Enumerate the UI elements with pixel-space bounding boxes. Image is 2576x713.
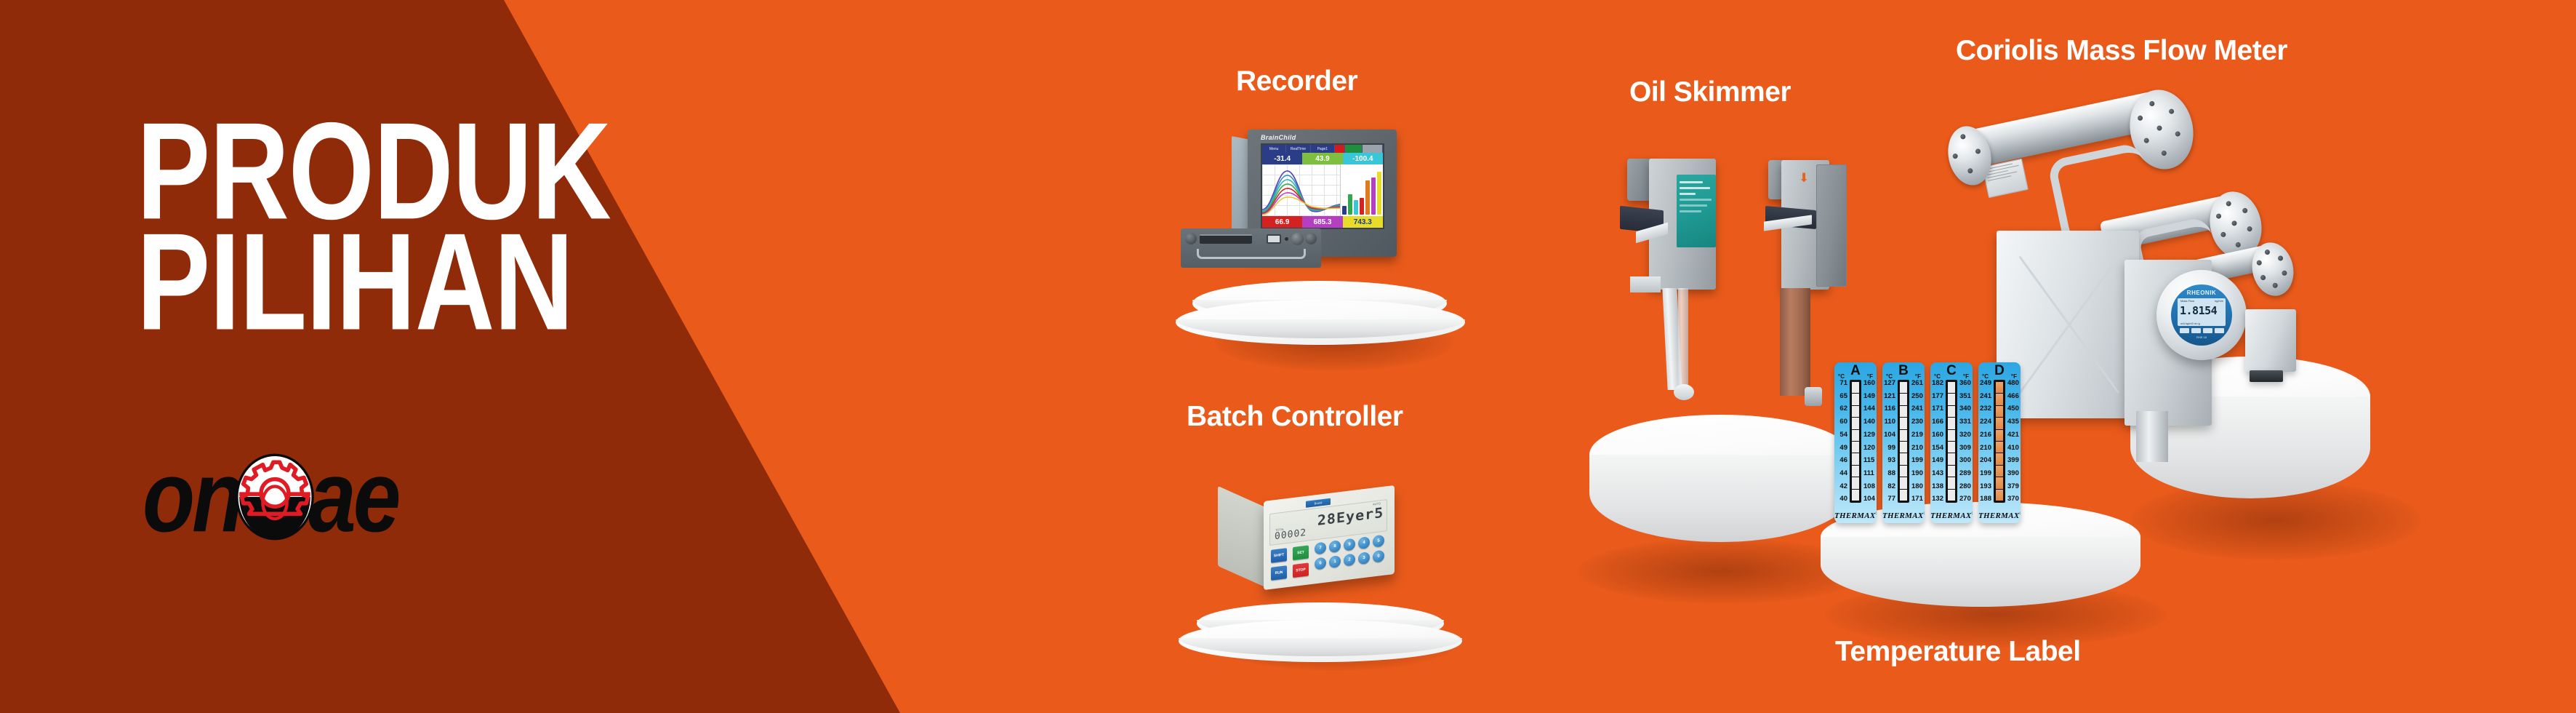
temp-fahrenheit-value: 160 (1863, 380, 1875, 387)
product-label-temperature: Temperature Label (1835, 636, 2081, 668)
temp-celsius-value: 199 (1980, 470, 1991, 477)
temp-celsius-value: 216 (1980, 431, 1991, 439)
temp-brand: THERMAX® (1978, 511, 2021, 520)
temp-celsius-value: 160 (1932, 431, 1943, 439)
temp-window-cell (1852, 430, 1859, 441)
temp-window-cell (1852, 382, 1859, 393)
temp-fahrenheit-value: 108 (1863, 483, 1875, 490)
temp-celsius-value: 188 (1980, 495, 1991, 503)
coriolis-stem (2136, 411, 2168, 462)
temp-fahrenheit-value: 190 (1911, 470, 1923, 477)
coriolis-lcd-label-left: Mass Flow (2180, 299, 2194, 303)
batch-rear-housing (1218, 486, 1270, 589)
recorder-realtime-tab[interactable]: RealTime (1286, 145, 1310, 153)
batch-keypad-key[interactable]: 1 (1329, 555, 1341, 568)
temp-celsius-value: 77 (1887, 495, 1895, 503)
temp-fahrenheit-value: 270 (1959, 495, 1971, 503)
temp-fahrenheit-value: 111 (1863, 470, 1874, 477)
temp-celsius-column: 1271211161101049993888277 (1882, 380, 1897, 503)
recorder-trend-plot (1262, 164, 1383, 216)
temp-window-cell (1900, 477, 1907, 488)
speaker-icon (1335, 145, 1345, 153)
temp-celsius-value: 40 (1839, 495, 1847, 503)
temp-fahrenheit-value: 250 (1911, 393, 1923, 400)
temp-fahrenheit-column: 480466450435421410399390379370 (2006, 380, 2021, 503)
temp-celsius-value: 54 (1839, 431, 1847, 439)
batch-keypad-key[interactable]: 7 (1315, 541, 1326, 554)
batch-keypad-key[interactable]: 3 (1358, 551, 1370, 565)
batch-keypad-key[interactable]: 2 (1344, 554, 1355, 567)
product-temperature-labels[interactable]: A °C °F 71656260544946444240 16014914414… (1834, 362, 2140, 617)
coriolis-lcd-label-right: kg/min (2215, 299, 2223, 303)
down-arrow-icon: ⬇ (1799, 172, 1809, 184)
temp-fahrenheit-value: 115 (1863, 457, 1874, 464)
temp-window-cell (1852, 418, 1859, 429)
temp-celsius-value: 121 (1884, 393, 1895, 400)
temp-celsius-value: 60 (1839, 418, 1847, 426)
temp-celsius-column: 249241232224216210204199193188 (1978, 380, 1993, 503)
usb-port-icon[interactable] (1267, 234, 1281, 244)
temp-celsius-value: 149 (1932, 457, 1943, 464)
temp-fahrenheit-value: 280 (1959, 483, 1971, 490)
promo-banner: PRODUK PILIHAN on ae Recorder Batch Cont… (0, 0, 2576, 713)
temp-fahrenheit-value: 199 (1911, 457, 1923, 464)
temp-fahrenheit-value: 450 (2007, 405, 2019, 413)
temp-celsius-value: 82 (1887, 483, 1895, 490)
batch-key-set[interactable]: SET (1293, 545, 1309, 560)
temp-fahrenheit-value: 480 (2007, 380, 2019, 387)
temp-fahrenheit-value: 399 (2007, 457, 2019, 464)
temp-celsius-value: 132 (1932, 495, 1943, 503)
recorder-led (1285, 237, 1288, 241)
temp-fahrenheit-value: 421 (2007, 431, 2019, 439)
product-label-recorder: Recorder (1236, 65, 1357, 97)
temp-fahrenheit-value: 289 (1959, 470, 1971, 477)
temp-fahrenheit-value: 140 (1863, 418, 1875, 426)
temp-indicator-window (1946, 380, 1957, 503)
temp-fahrenheit-value: 129 (1863, 431, 1875, 439)
page-title: PRODUK PILIHAN (137, 116, 611, 338)
batch-keypad-key[interactable]: 8 (1329, 540, 1341, 553)
temp-fahrenheit-value: 379 (2007, 483, 2019, 490)
temp-window-cell (1948, 382, 1955, 393)
temp-window-cell (1948, 406, 1955, 417)
temp-celsius-value: 62 (1839, 405, 1847, 413)
temp-window-cell (1948, 394, 1955, 405)
gear-circle-icon (234, 453, 316, 541)
product-oil-skimmer[interactable]: ⬇ (1563, 131, 1876, 575)
recorder-value-4: 66.9 (1262, 216, 1302, 228)
skimmer-b-door[interactable] (1816, 164, 1847, 287)
recorder-status-gray (1363, 145, 1383, 153)
skimmer-a-foot (1674, 384, 1694, 400)
batch-keypad-key[interactable]: 5 (1373, 535, 1384, 548)
recorder-menu-tab[interactable]: Menu (1262, 145, 1286, 153)
temp-celsius-value: 99 (1887, 445, 1895, 452)
product-batch-controller[interactable]: Brand AUTO 28Eyer5 TOTAL 00002 SHIFT SET… (1185, 466, 1490, 684)
recorder-value-2: 43.9 (1302, 153, 1342, 164)
temp-celsius-value: 143 (1932, 470, 1943, 477)
batch-keypad[interactable]: 7 8 9 4 5 6 1 2 3 0 (1315, 535, 1384, 575)
batch-keypad-key[interactable]: 9 (1344, 538, 1355, 551)
batch-key-stop[interactable]: STOP (1293, 562, 1309, 578)
temp-fahrenheit-value: 309 (1959, 445, 1971, 452)
temperature-strip-a[interactable]: A °C °F 71656260544946444240 16014914414… (1834, 362, 1877, 523)
temp-fahrenheit-value: 351 (1959, 393, 1971, 400)
recorder-bottom-values: 66.9 685.3 743.3 (1262, 216, 1383, 228)
temp-celsius-value: 224 (1980, 418, 1991, 426)
temp-window-cell (1852, 477, 1859, 488)
batch-key-run[interactable]: RUN (1271, 565, 1287, 581)
temp-celsius-value: 249 (1980, 380, 1991, 387)
temp-celsius-value: 204 (1980, 457, 1991, 464)
temp-celsius-value: 71 (1839, 380, 1847, 387)
temp-fahrenheit-value: 370 (2007, 495, 2019, 503)
temp-window-cell (1948, 442, 1955, 453)
recorder-front-panel[interactable] (1181, 228, 1321, 268)
batch-keypad-key[interactable]: 6 (1315, 557, 1326, 570)
coriolis-lcd: Mass Flow kg/min 1.8154 mA kg/m3 m=g (2178, 298, 2226, 326)
temp-window-cell (1900, 453, 1907, 464)
recorder-status-green (1345, 145, 1363, 153)
temp-window-cell (1900, 442, 1907, 453)
temp-fahrenheit-value: 300 (1959, 457, 1971, 464)
skimmer-b-belt (1780, 288, 1810, 396)
batch-front-case: Brand AUTO 28Eyer5 TOTAL 00002 SHIFT SET… (1264, 485, 1395, 590)
temp-celsius-value: 110 (1885, 418, 1895, 426)
temp-celsius-value: 154 (1932, 445, 1943, 452)
temp-indicator-window (1850, 380, 1861, 503)
temp-window-cell (1996, 430, 2003, 441)
temp-celsius-value: 241 (1980, 393, 1991, 400)
temp-celsius-value: 182 (1932, 380, 1943, 387)
coriolis-button[interactable] (2215, 328, 2224, 333)
temp-window-cell (1948, 453, 1955, 464)
temp-window-cell (1996, 466, 2003, 477)
product-label-coriolis: Coriolis Mass Flow Meter (1956, 35, 2287, 67)
screw-icon-left (1185, 233, 1197, 244)
temp-window-cell (1900, 406, 1907, 417)
batch-keypad-key[interactable]: 0 (1373, 550, 1384, 563)
temp-window-cell (1996, 442, 2003, 453)
temp-window-cell (1948, 466, 1955, 477)
temp-celsius-value: 44 (1839, 470, 1847, 477)
recorder-top-values: -31.4 43.9 -100.4 (1262, 153, 1383, 164)
recorder-value-5: 685.3 (1302, 216, 1342, 228)
temperature-strip-d[interactable]: D °C °F 249241232224216210204199193188 4… (1978, 362, 2021, 523)
temp-fahrenheit-value: 261 (1911, 380, 1923, 387)
temp-window-cell (1996, 418, 2003, 429)
batch-key-shift[interactable]: SHIFT (1271, 548, 1287, 563)
batch-keypad-key[interactable]: 4 (1358, 536, 1370, 549)
temp-celsius-value: 127 (1884, 380, 1895, 387)
temp-fahrenheit-value: 435 (2007, 418, 2019, 426)
recorder-trend-grid (1262, 164, 1340, 216)
brand-logo[interactable]: on ae (143, 453, 398, 541)
temp-celsius-value: 171 (1932, 405, 1943, 413)
temp-window-cell (1900, 466, 1907, 477)
coriolis-cable-gland (2250, 370, 2283, 382)
coriolis-transmitter-face: RHEONIK Mass Flow kg/min 1.8154 mA kg/m3… (2171, 284, 2232, 346)
temp-window-cell (1900, 394, 1907, 405)
coriolis-junction-box (2245, 309, 2296, 372)
temp-celsius-value: 210 (1980, 445, 1991, 452)
recorder-page-tab[interactable]: Page1 (1311, 145, 1335, 153)
recorder-handle[interactable] (1197, 249, 1306, 259)
product-recorder[interactable]: BrainChild Menu RealTime Page1 -31.4 43.… (1176, 122, 1482, 370)
coriolis-transmitter-tag: RHE 16 (2196, 335, 2207, 339)
temp-fahrenheit-value: 331 (1959, 418, 1971, 426)
temp-fahrenheit-value: 120 (1863, 445, 1875, 452)
temp-window-cell (1852, 466, 1859, 477)
temp-fahrenheit-value: 149 (1863, 393, 1875, 400)
temp-fahrenheit-value: 390 (2007, 470, 2019, 477)
recorder-value-3: -100.4 (1343, 153, 1383, 164)
temp-celsius-value: 93 (1887, 457, 1895, 464)
temp-fahrenheit-value: 219 (1911, 431, 1923, 439)
temp-celsius-value: 104 (1884, 431, 1895, 439)
recorder-value-1: -31.4 (1262, 153, 1302, 164)
temp-fahrenheit-column: 160149144140129120115111108104 (1862, 380, 1877, 503)
temp-window-cell (1948, 418, 1955, 429)
temp-window-cell (1996, 406, 2003, 417)
coriolis-button[interactable] (2191, 328, 2201, 333)
temp-window-cell (1852, 490, 1859, 501)
temp-window-cell (1948, 477, 1955, 488)
temp-celsius-column: 71656260544946444240 (1834, 380, 1849, 503)
coriolis-transmitter[interactable]: RHEONIK Mass Flow kg/min 1.8154 mA kg/m3… (2156, 270, 2247, 360)
temp-window-cell (1948, 430, 1955, 441)
recorder-power-knob[interactable] (1291, 233, 1304, 245)
temp-fahrenheit-value: 104 (1863, 495, 1875, 503)
temp-window-cell (1852, 442, 1859, 453)
temp-celsius-value: 193 (1980, 483, 1991, 490)
temperature-strip-b[interactable]: B °C °F 1271211161101049993888277 261250… (1882, 362, 1925, 523)
temp-window-cell (1900, 418, 1907, 429)
temp-window-cell (1996, 490, 2003, 501)
temp-window-cell (1852, 453, 1859, 464)
temp-brand: THERMAX® (1882, 511, 1925, 520)
coriolis-button-row[interactable] (2180, 328, 2224, 333)
temp-fahrenheit-value: 180 (1911, 483, 1923, 490)
temp-fahrenheit-value: 144 (1863, 405, 1875, 413)
temp-celsius-value: 42 (1839, 483, 1847, 490)
temp-window-cell (1900, 382, 1907, 393)
temp-indicator-window (1898, 380, 1909, 503)
temp-celsius-value: 88 (1887, 470, 1895, 477)
temp-brand: THERMAX® (1834, 511, 1877, 520)
temp-celsius-value: 116 (1885, 405, 1895, 413)
temp-fahrenheit-value: 340 (1959, 405, 1971, 413)
screw-icon-right (1305, 233, 1317, 244)
coriolis-lcd-label-bottom: mA kg/m3 m=g (2180, 322, 2200, 325)
recorder-sd-slot[interactable] (1200, 234, 1252, 244)
recorder-brand: BrainChild (1261, 134, 1296, 141)
coriolis-button[interactable] (2180, 328, 2189, 333)
recorder-value-6: 743.3 (1343, 216, 1383, 228)
temp-indicator-window (1994, 380, 2005, 503)
temp-fahrenheit-value: 320 (1959, 431, 1971, 439)
temp-celsius-value: 49 (1839, 445, 1847, 452)
temp-window-cell (1948, 490, 1955, 501)
temperature-strip-c[interactable]: C °C °F 182177171166160154149143138132 3… (1930, 362, 1973, 523)
temp-window-cell (1852, 406, 1859, 417)
temp-fahrenheit-column: 261250241230219210199190180171 (1910, 380, 1925, 503)
temp-window-cell (1900, 490, 1907, 501)
temp-window-cell (1996, 453, 2003, 464)
skimmer-a-label-plate (1677, 175, 1716, 247)
temp-fahrenheit-value: 230 (1911, 418, 1923, 426)
recorder-screen: Menu RealTime Page1 -31.4 43.9 -100.4 (1261, 143, 1384, 229)
temp-fahrenheit-column: 360351340331320309300289280270 (1958, 380, 1973, 503)
logo-text-before: on (143, 446, 241, 547)
skimmer-b-foot (1805, 387, 1822, 406)
temp-window-cell (1996, 477, 2003, 488)
logo-text-after: ae (308, 446, 398, 547)
temp-celsius-column: 182177171166160154149143138132 (1930, 380, 1945, 503)
recorder-topbar: Menu RealTime Page1 (1262, 145, 1383, 153)
batch-lcd-main-value: 28Eyer5 (1317, 505, 1384, 529)
temp-fahrenheit-value: 466 (2007, 393, 2019, 400)
temp-celsius-value: 65 (1839, 393, 1847, 400)
headline-line-2: PILIHAN (137, 227, 611, 338)
temp-brand: THERMAX® (1930, 511, 1973, 520)
temp-celsius-value: 232 (1980, 405, 1991, 413)
temp-fahrenheit-value: 410 (2007, 445, 2019, 452)
coriolis-lcd-reading: 1.8154 (2180, 304, 2217, 317)
batch-function-keys[interactable]: SHIFT SET RUN STOP (1271, 545, 1310, 582)
temp-window-cell (1900, 430, 1907, 441)
temp-celsius-value: 177 (1932, 393, 1943, 400)
temp-celsius-value: 166 (1932, 418, 1943, 426)
temp-fahrenheit-value: 171 (1911, 495, 1923, 503)
temp-fahrenheit-value: 210 (1911, 445, 1923, 452)
temp-fahrenheit-value: 241 (1911, 405, 1923, 413)
temp-celsius-value: 138 (1932, 483, 1943, 490)
coriolis-transmitter-brand: RHEONIK (2187, 290, 2216, 296)
temp-window-cell (1996, 382, 2003, 393)
recorder-bar-gauges (1340, 164, 1383, 216)
temp-window-cell (1852, 394, 1859, 405)
temp-window-cell (1996, 394, 2003, 405)
coriolis-button[interactable] (2203, 328, 2212, 333)
temp-celsius-value: 46 (1839, 457, 1847, 464)
product-label-batch-controller: Batch Controller (1187, 401, 1403, 433)
temp-fahrenheit-value: 360 (1959, 380, 1971, 387)
product-label-oil-skimmer: Oil Skimmer (1629, 76, 1791, 108)
